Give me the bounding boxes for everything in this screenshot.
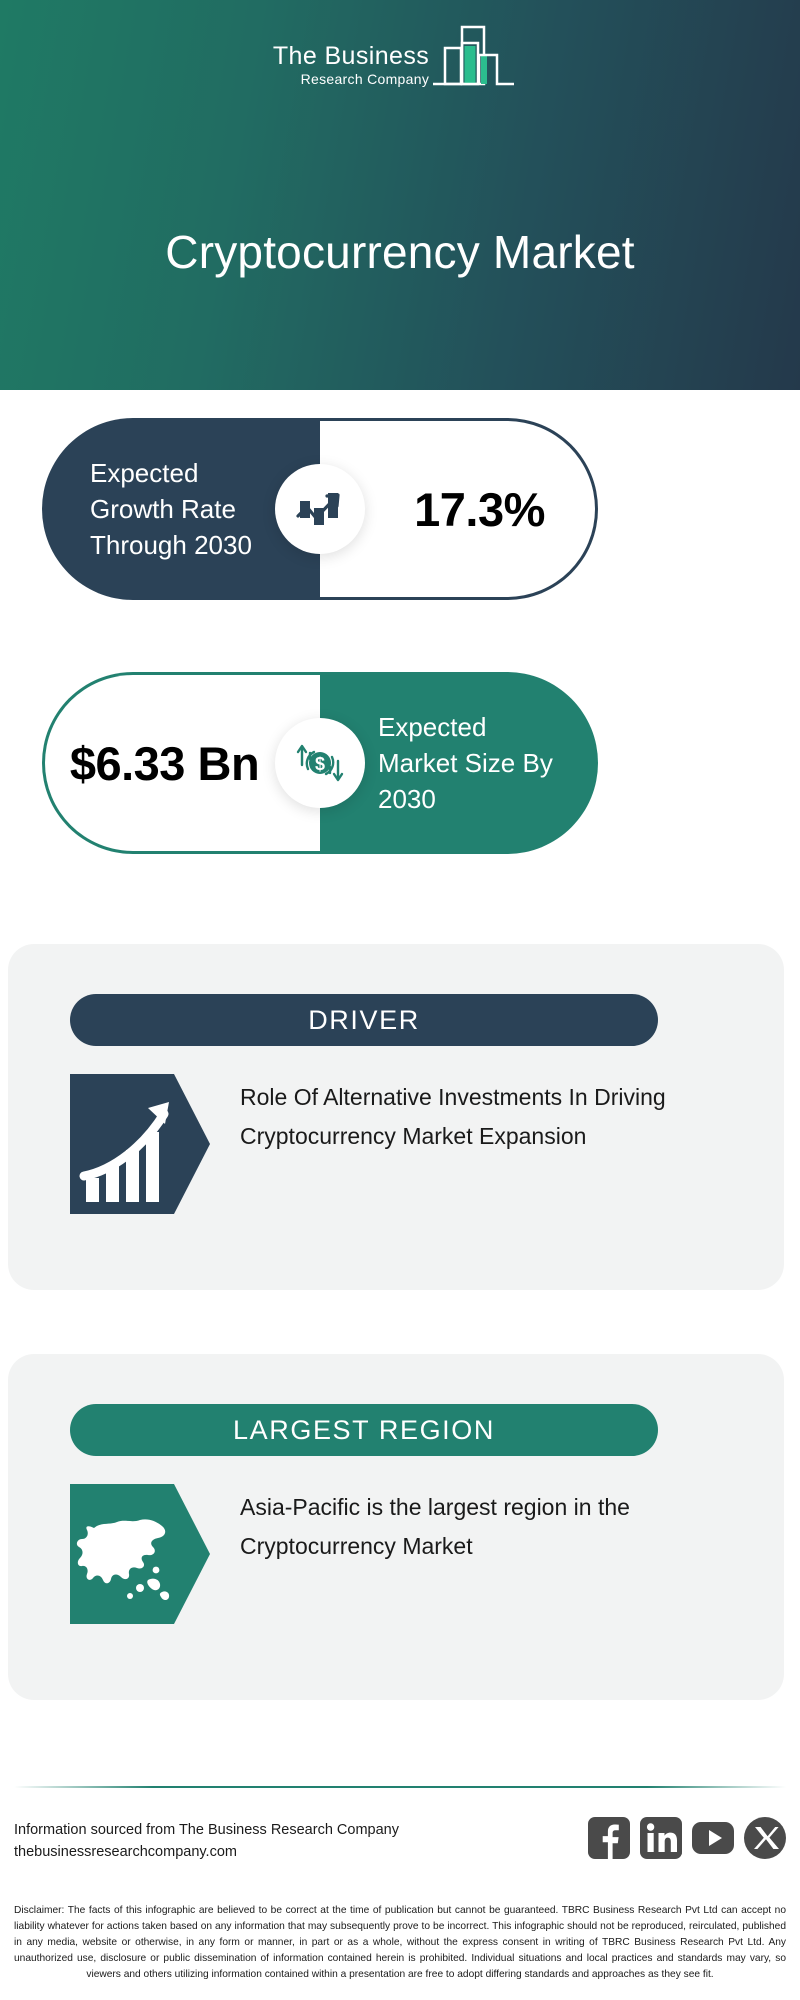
footer-source: Information sourced from The Business Re… [14,1819,399,1863]
driver-pill: DRIVER [70,994,658,1046]
logo-line-1: The Business [273,42,429,70]
footer-divider [14,1786,786,1788]
rising-bar-chart-pentagon-icon [70,1074,210,1214]
region-body: Asia-Pacific is the largest region in th… [70,1484,744,1624]
linkedin-icon[interactable]: ™ [640,1817,682,1859]
svg-text:™: ™ [679,1852,682,1858]
disclaimer-text: Disclaimer: The facts of this infographi… [14,1903,786,1983]
region-pill-label: LARGEST REGION [233,1415,495,1446]
stat-card-market-size: $6.33 Bn Expected Market Size By 2030 $ [42,672,598,854]
company-logo: The Business Research Company [0,22,800,92]
footer-source-url[interactable]: thebusinessresearchcompany.com [14,1841,399,1863]
x-twitter-icon[interactable] [744,1817,786,1859]
stat-card-growth-rate: Expected Growth Rate Through 2030 17.3% [42,418,598,600]
footer-source-line-1: Information sourced from The Business Re… [14,1819,399,1841]
dollar-circulation-icon: $ [292,735,348,791]
driver-body: Role Of Alternative Investments In Drivi… [70,1074,744,1214]
facebook-icon[interactable] [588,1817,630,1859]
asia-map-pentagon-icon [70,1484,210,1624]
panel-largest-region: LARGEST REGION Asia-Pacific is the large… [8,1354,784,1700]
infographic-page: The Business Research Company Crypto [0,0,800,2000]
svg-text:$: $ [315,754,325,774]
driver-pill-label: DRIVER [308,1005,420,1036]
logo-line-2: Research Company [273,70,429,88]
region-description: Asia-Pacific is the largest region in th… [240,1484,744,1566]
social-links: ™ [588,1817,786,1859]
bar-chart-logo-icon [431,22,527,92]
stat-icon-badge [275,464,365,554]
youtube-icon[interactable] [692,1817,734,1859]
page-title: Cryptocurrency Market [0,225,800,279]
region-pill: LARGEST REGION [70,1404,658,1456]
logo-wordmark: The Business Research Company [273,42,429,92]
driver-description: Role Of Alternative Investments In Drivi… [240,1074,744,1156]
growth-chart-arrow-icon [292,481,348,537]
stat-icon-badge: $ [275,718,365,808]
panel-driver: DRIVER Role Of Alternative Investments I… [8,944,784,1290]
header-banner: The Business Research Company Crypto [0,0,800,390]
